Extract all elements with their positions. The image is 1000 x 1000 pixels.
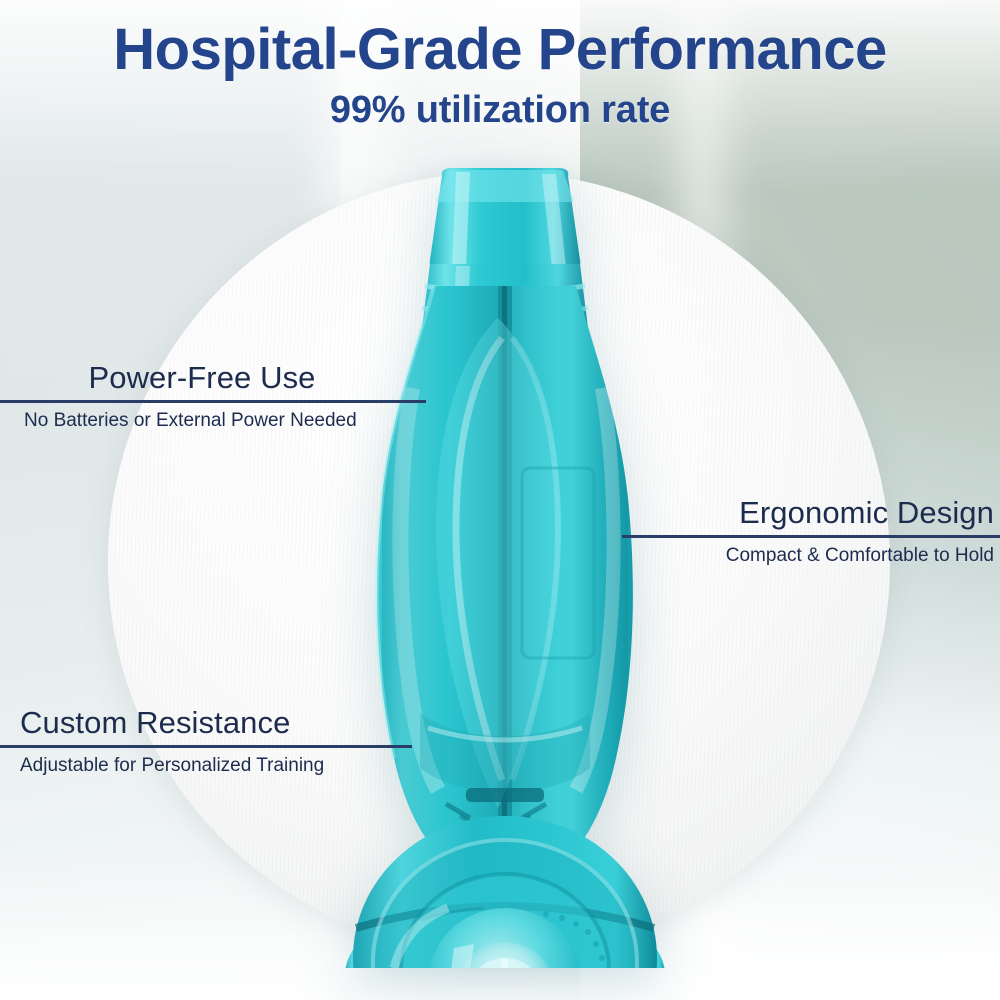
device-mouthpiece [430,168,581,272]
page-title: Hospital-Grade Performance [0,0,1000,81]
callout-ergonomic-design-subtitle: Compact & Comfortable to Hold [622,544,1000,567]
callout-ergonomic-design-title: Ergonomic Design [622,497,1000,528]
callout-custom-resistance-rule [0,745,412,748]
callout-custom-resistance-title: Custom Resistance [0,707,412,738]
callout-power-free-use: Power-Free Use No Batteries or External … [0,362,426,432]
callout-custom-resistance: Custom Resistance Adjustable for Persona… [0,707,412,777]
callout-power-free-use-subtitle: No Batteries or External Power Needed [0,409,426,432]
callout-power-free-use-rule [0,400,426,403]
device-resistance-dial-base [353,816,657,968]
callout-power-free-use-title: Power-Free Use [0,362,426,393]
page-subtitle: 99% utilization rate [0,81,1000,132]
callout-ergonomic-design-rule [622,535,1000,538]
product-image-breathing-trainer [270,168,740,968]
callout-ergonomic-design: Ergonomic Design Compact & Comfortable t… [622,497,1000,567]
infographic-canvas: Hospital-Grade Performance 99% utilizati… [0,0,1000,1000]
header: Hospital-Grade Performance 99% utilizati… [0,0,1000,132]
callout-custom-resistance-subtitle: Adjustable for Personalized Training [0,754,412,777]
